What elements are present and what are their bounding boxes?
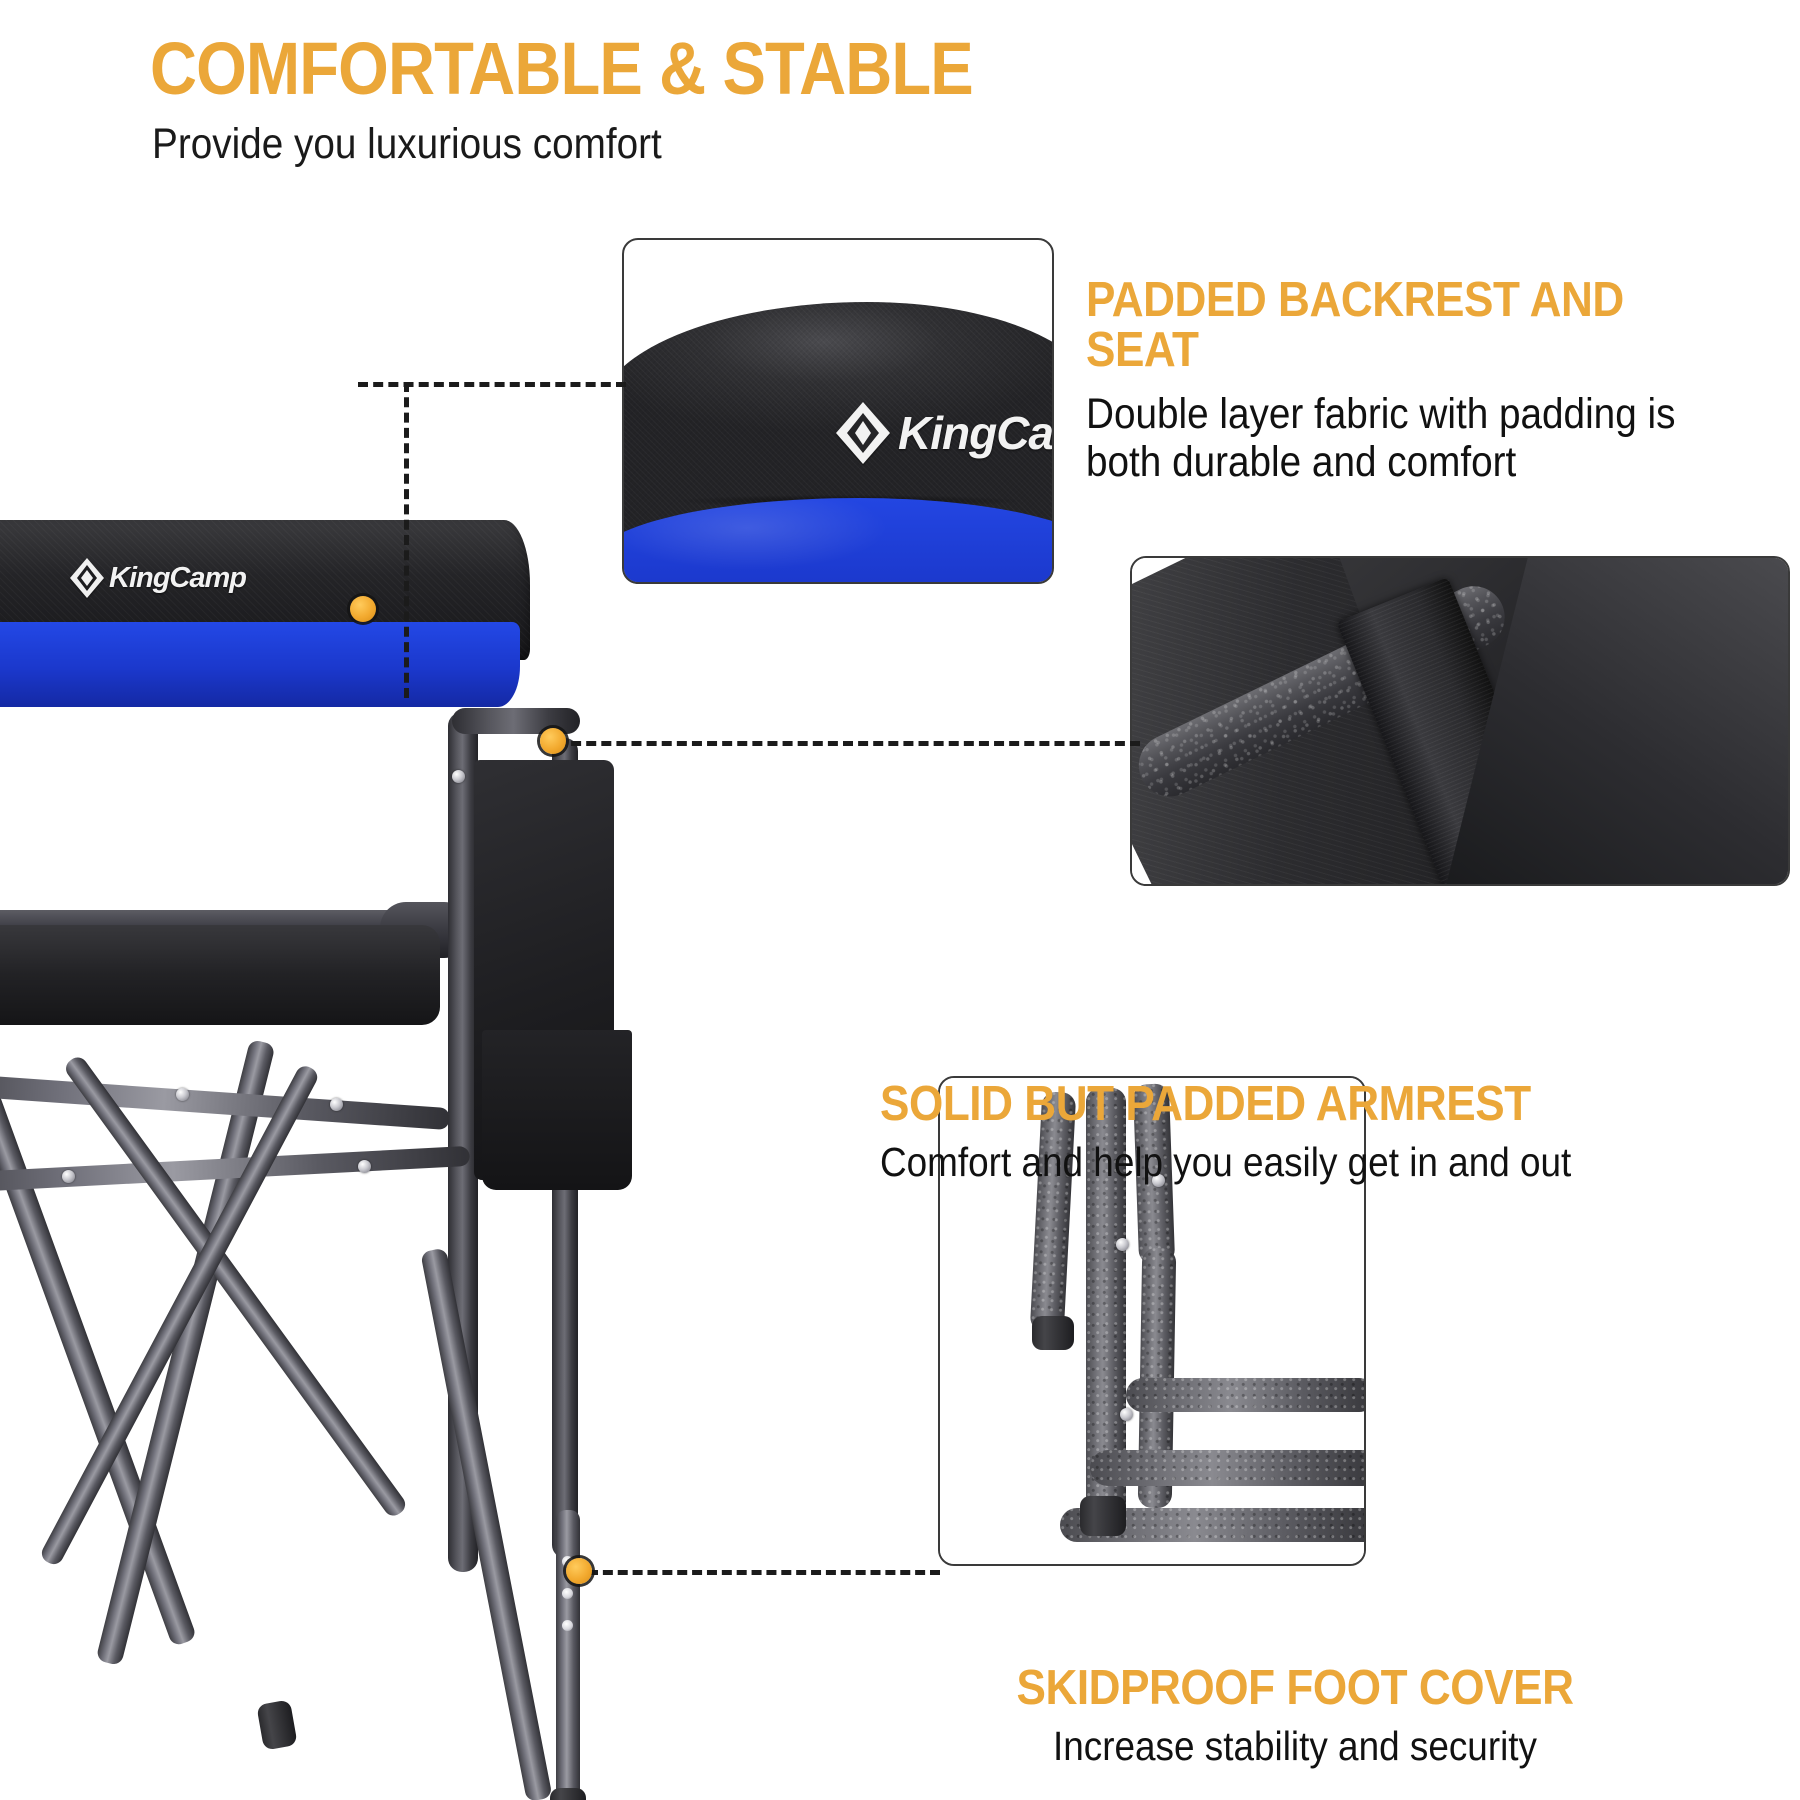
chair-rivet-2 <box>330 1098 343 1111</box>
chair-diagonal-strut-2 <box>38 1063 320 1568</box>
backrest-logo-wordmark: KingCamp <box>898 406 1054 460</box>
callout-padded-armrest: SOLID BUT PADDED ARMREST Comfort and hel… <box>880 1080 1800 1186</box>
chair-adjustable-leg <box>556 1510 580 1800</box>
chair-logo-wordmark: KingCamp <box>109 562 246 595</box>
skidproof-foot-cap-a <box>1032 1316 1074 1350</box>
armrest-detail-photo <box>1130 556 1790 886</box>
chair-foot-cap-front <box>550 1788 586 1800</box>
foot-rail-lower <box>1090 1450 1366 1486</box>
foot-rivet-3 <box>1120 1408 1133 1421</box>
connector-armrest-horizontal <box>556 741 1140 746</box>
callout-armrest-heading: SOLID BUT PADDED ARMREST <box>880 1080 1708 1130</box>
chair-backrest-blue-fabric <box>0 622 520 707</box>
chair-kingcamp-logo: KingCamp <box>70 558 246 598</box>
chair-seat-cushion <box>0 925 440 1025</box>
foot-rail-upper <box>1126 1378 1366 1412</box>
marker-backrest[interactable] <box>350 596 376 622</box>
armrest-photo-inner <box>1132 558 1788 884</box>
page-title: COMFORTABLE & STABLE <box>150 32 973 106</box>
kingcamp-diamond-icon <box>836 402 890 464</box>
connector-backrest-vertical <box>404 382 409 698</box>
callout-padded-backrest: PADDED BACKREST AND SEAT Double layer fa… <box>1086 276 1786 486</box>
kingcamp-diamond-icon <box>70 558 104 598</box>
callout-backrest-body: Double layer fabric with padding is both… <box>1086 390 1716 486</box>
backrest-kingcamp-logo: KingCamp <box>836 402 1054 464</box>
leg-adjust-hole-2 <box>562 1588 573 1599</box>
marker-armrest[interactable] <box>540 728 566 754</box>
chair-rivet-3 <box>62 1170 75 1183</box>
chair-side-pocket-lower <box>482 1030 632 1190</box>
directors-chair-main-photo: KingCamp <box>0 470 700 1800</box>
leg-adjust-hole-3 <box>562 1620 573 1631</box>
callout-foot-body: Increase stability and security <box>841 1724 1750 1770</box>
backrest-detail-photo: KingCamp <box>622 238 1054 584</box>
chair-rivet-4 <box>358 1160 371 1173</box>
chair-rear-leg <box>420 1248 552 1800</box>
chair-foot-cap-rear <box>256 1699 297 1750</box>
foot-rivet-1 <box>1116 1238 1129 1251</box>
callout-backrest-heading: PADDED BACKREST AND SEAT <box>1086 276 1716 376</box>
callout-skidproof-foot-cover: SKIDPROOF FOOT COVER Increase stability … <box>790 1664 1800 1770</box>
callout-armrest-body: Comfort and help you easily get in and o… <box>880 1140 1708 1186</box>
connector-foot-horizontal <box>588 1570 940 1575</box>
skidproof-foot-cap-b <box>1080 1496 1126 1536</box>
infographic-page: COMFORTABLE & STABLE Provide you luxurio… <box>0 0 1800 1800</box>
connector-backrest-horizontal <box>358 382 626 387</box>
chair-horizontal-brace <box>0 1072 450 1130</box>
callout-foot-heading: SKIDPROOF FOOT COVER <box>841 1664 1750 1714</box>
marker-foot-cover[interactable] <box>566 1558 592 1584</box>
page-subtitle: Provide you luxurious comfort <box>152 120 662 169</box>
chair-rivet-1 <box>176 1088 189 1101</box>
chair-rivet-5 <box>452 770 465 783</box>
